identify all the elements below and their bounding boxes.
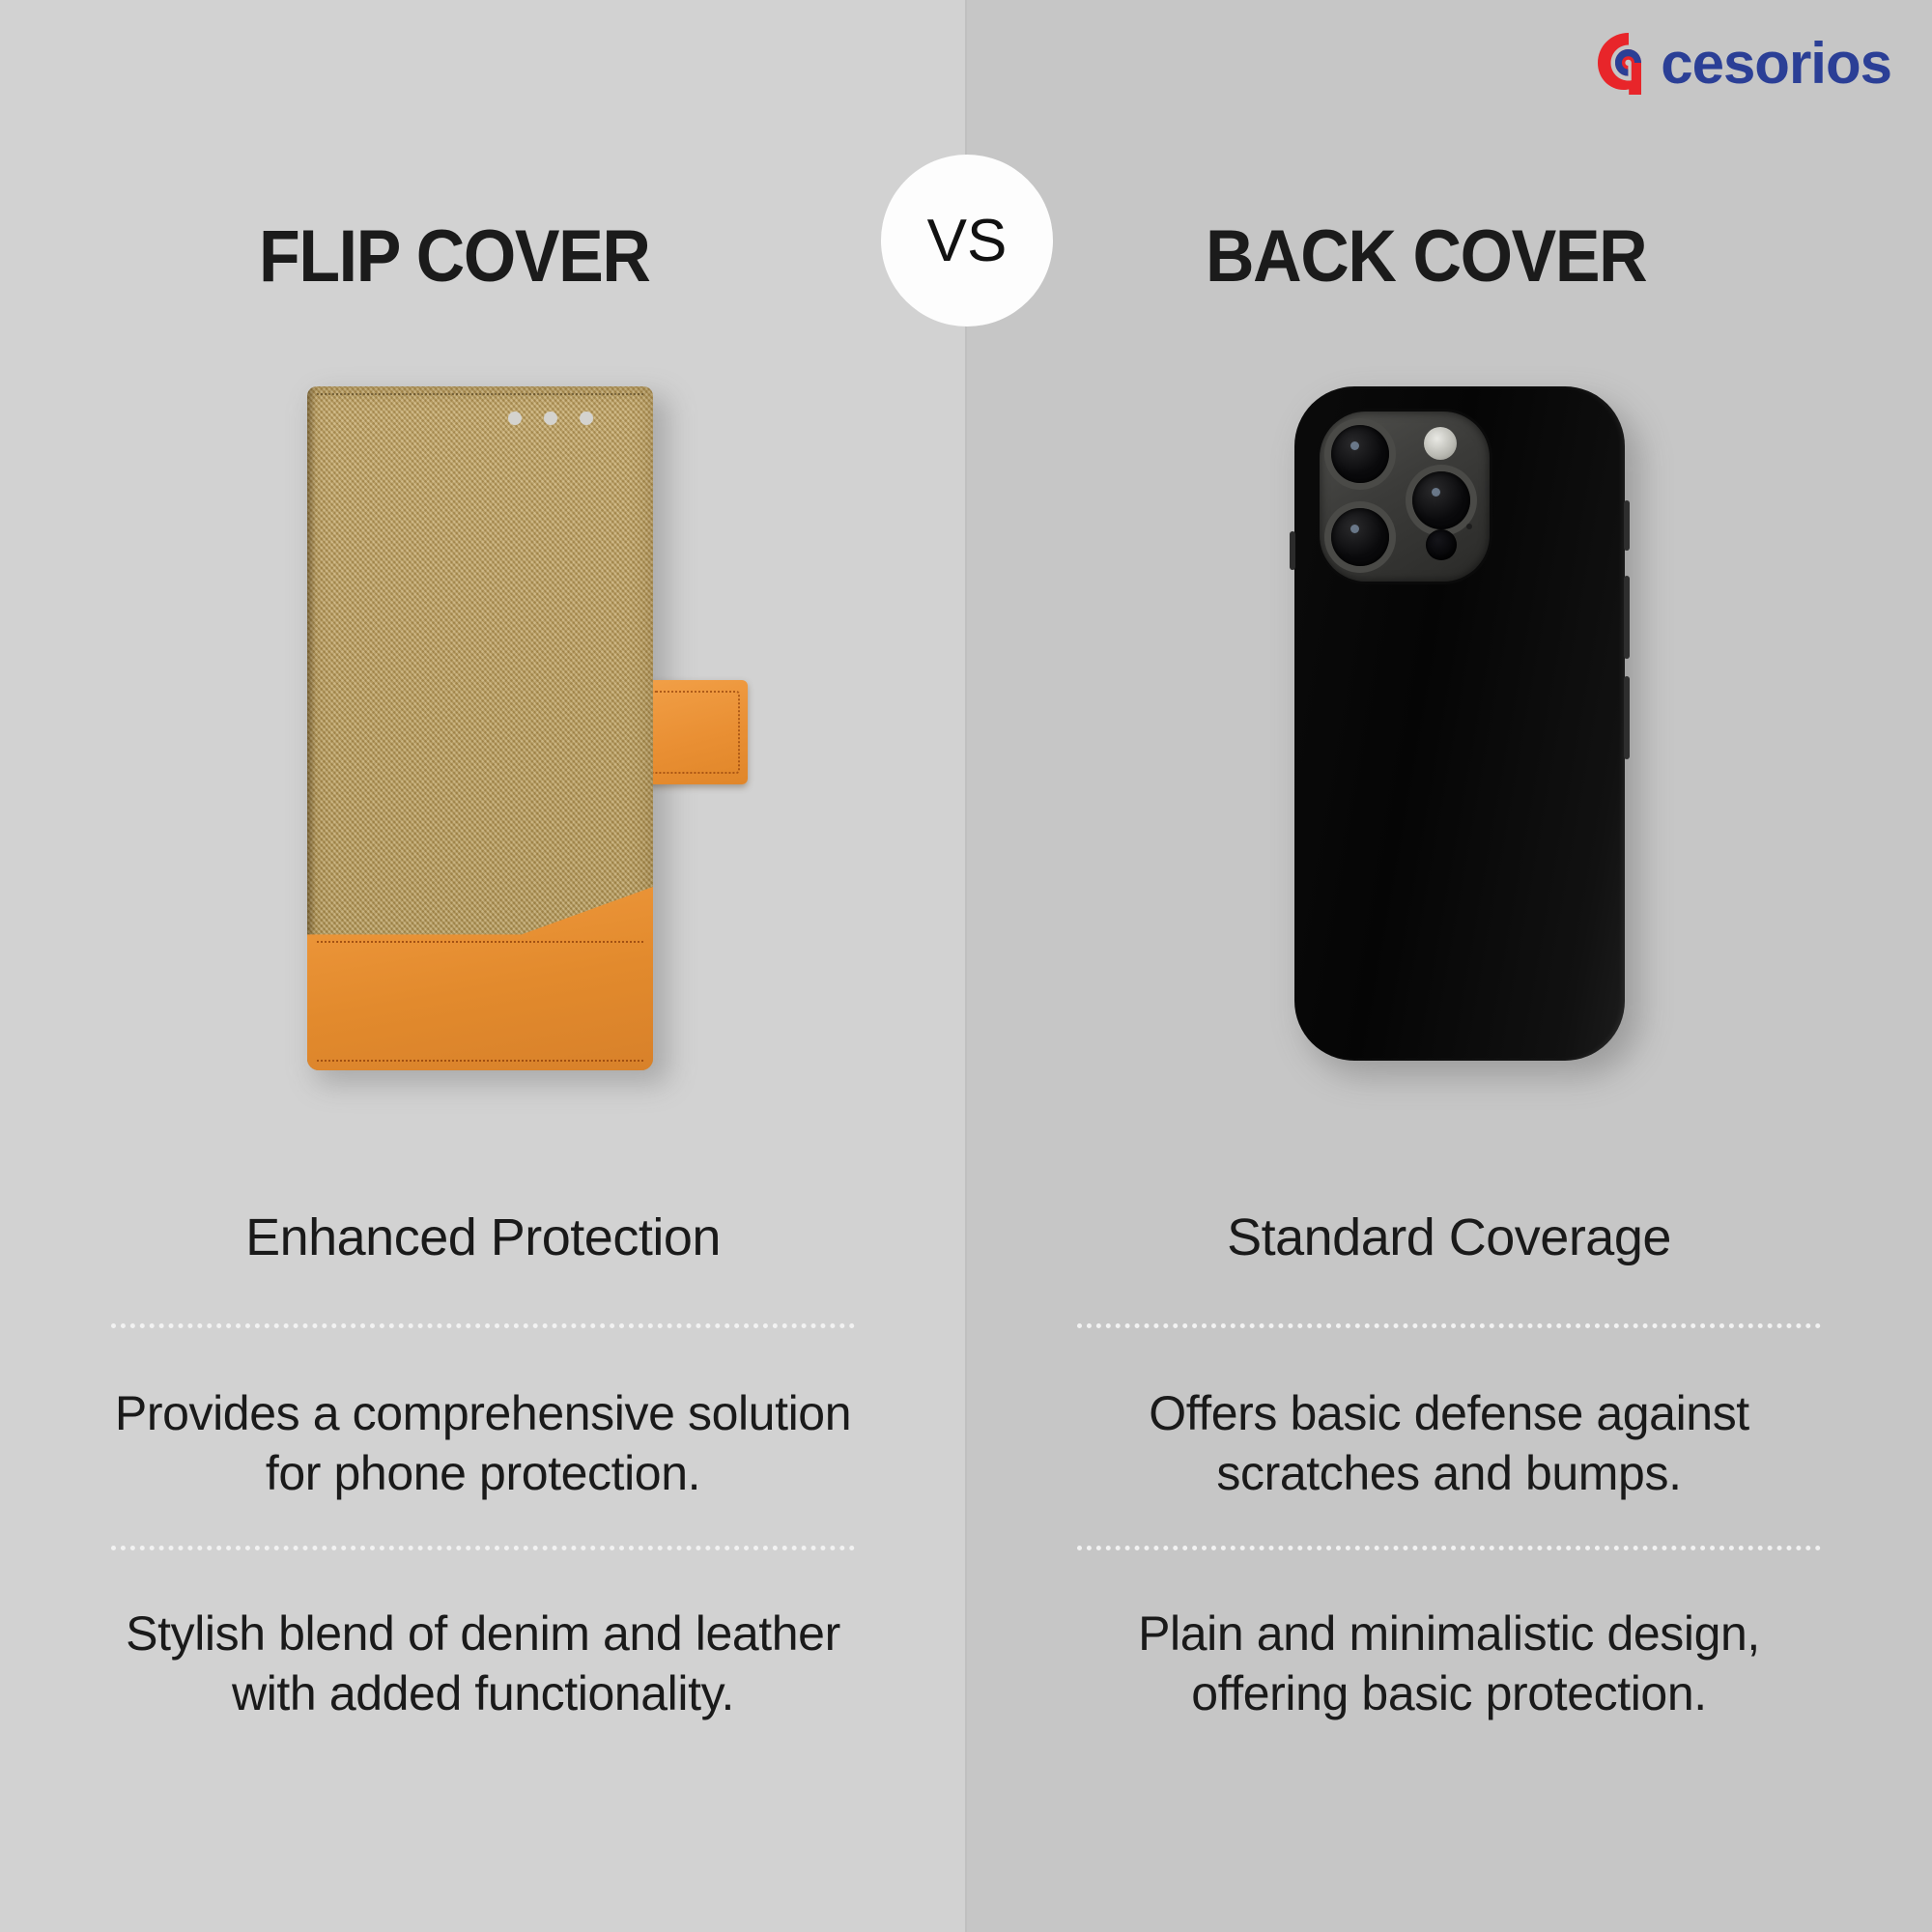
left-divider-1	[111, 1323, 855, 1328]
left-point-1: Provides a comprehensive solution for ph…	[97, 1383, 869, 1503]
right-divider-2	[1077, 1546, 1821, 1550]
brand-logo[interactable]: cesorios	[1595, 27, 1891, 100]
camera-flash-icon	[1424, 427, 1457, 460]
left-divider-2	[111, 1546, 855, 1550]
back-cover-product-image	[1294, 386, 1642, 1074]
right-heading: BACK COVER	[1206, 214, 1646, 298]
microphone-dot-icon	[1466, 524, 1472, 529]
flip-cover-product-image	[307, 386, 667, 1082]
power-button-cutout	[1624, 676, 1630, 759]
flip-cover-leather-panel	[307, 887, 653, 1070]
camera-lens-wide-icon	[1331, 425, 1389, 483]
right-point-1: Offers basic defense against scratches a…	[1063, 1383, 1835, 1503]
logo-a-mark-icon	[1595, 30, 1662, 98]
camera-module-plate	[1320, 412, 1490, 582]
mute-switch-cutout	[1290, 531, 1295, 570]
lidar-sensor-icon	[1426, 529, 1457, 560]
volume-up-button-cutout	[1624, 500, 1630, 551]
brand-logo-text: cesorios	[1661, 35, 1891, 93]
right-point-2: Plain and minimalistic design, offering …	[1063, 1604, 1835, 1723]
left-heading: FLIP COVER	[259, 214, 649, 298]
vs-badge: VS	[881, 155, 1053, 327]
camera-lens-ultrawide-icon	[1331, 508, 1389, 566]
volume-down-button-cutout	[1624, 576, 1630, 659]
left-subtitle: Enhanced Protection	[68, 1207, 898, 1267]
camera-lens-telephoto-icon	[1412, 471, 1470, 529]
flip-cover-top-stitching	[317, 393, 643, 395]
flip-cover-accent-dots	[508, 412, 593, 425]
left-point-2: Stylish blend of denim and leather with …	[97, 1604, 869, 1723]
flip-cover-denim-body	[307, 386, 653, 1070]
right-subtitle: Standard Coverage	[1034, 1207, 1864, 1267]
right-divider-1	[1077, 1323, 1821, 1328]
back-cover-case-body	[1294, 386, 1625, 1061]
vs-label: VS	[927, 207, 1008, 275]
infographic-canvas: cesorios FLIP COVER BACK COVER VS	[0, 0, 1932, 1932]
